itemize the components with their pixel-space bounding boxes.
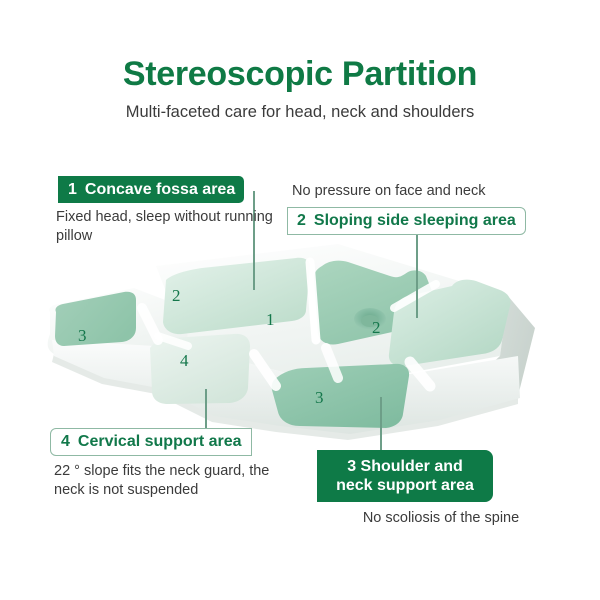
zone-label-4: 4: [180, 351, 189, 371]
zone-3-left: [55, 292, 136, 346]
zone-label-1: 1: [266, 310, 275, 330]
callout-2-label: Sloping side sleeping area: [314, 212, 516, 230]
callout-2-description: No pressure on face and neck: [292, 182, 562, 201]
pillow-illustration: 2 1 2 3 4 3: [38, 236, 568, 451]
zone-label-2-right: 2: [372, 318, 381, 338]
callout-4-label: Cervical support area: [78, 433, 242, 451]
callout-4[interactable]: 4 Cervical support area: [50, 428, 252, 456]
pillow-svg: [38, 236, 568, 451]
callout-4-number: 4: [61, 433, 70, 451]
callout-3-description: No scoliosis of the spine: [316, 509, 566, 528]
callout-1-label: Concave fossa area: [85, 181, 235, 199]
zone-label-2-left: 2: [172, 286, 181, 306]
callout-1-description: Fixed head, sleep without running pillow: [56, 208, 286, 246]
zone-4-front: [150, 334, 250, 404]
callout-1-number: 1: [68, 181, 77, 199]
callout-4-description: 22 ° slope fits the neck guard, the neck…: [54, 462, 304, 500]
leader-line-3: [380, 397, 382, 453]
callout-2-number: 2: [297, 212, 306, 230]
callout-3-label-line2: neck support area: [317, 476, 493, 495]
page-title: Stereoscopic Partition: [0, 55, 600, 94]
zone-label-3-front: 3: [315, 388, 324, 408]
product-infographic: Stereoscopic Partition Multi-faceted car…: [0, 0, 600, 600]
callout-2[interactable]: 2 Sloping side sleeping area: [287, 207, 526, 235]
callout-3[interactable]: 3 Shoulder and neck support area: [317, 450, 493, 502]
ridge-1: [310, 262, 316, 340]
leader-line-2: [416, 222, 418, 318]
callout-1[interactable]: 1 Concave fossa area: [58, 176, 244, 203]
callout-3-label-line1: 3 Shoulder and: [317, 457, 493, 476]
page-subtitle: Multi-faceted care for head, neck and sh…: [0, 103, 600, 122]
leader-line-4: [205, 389, 207, 431]
zone-label-3-left: 3: [78, 326, 87, 346]
